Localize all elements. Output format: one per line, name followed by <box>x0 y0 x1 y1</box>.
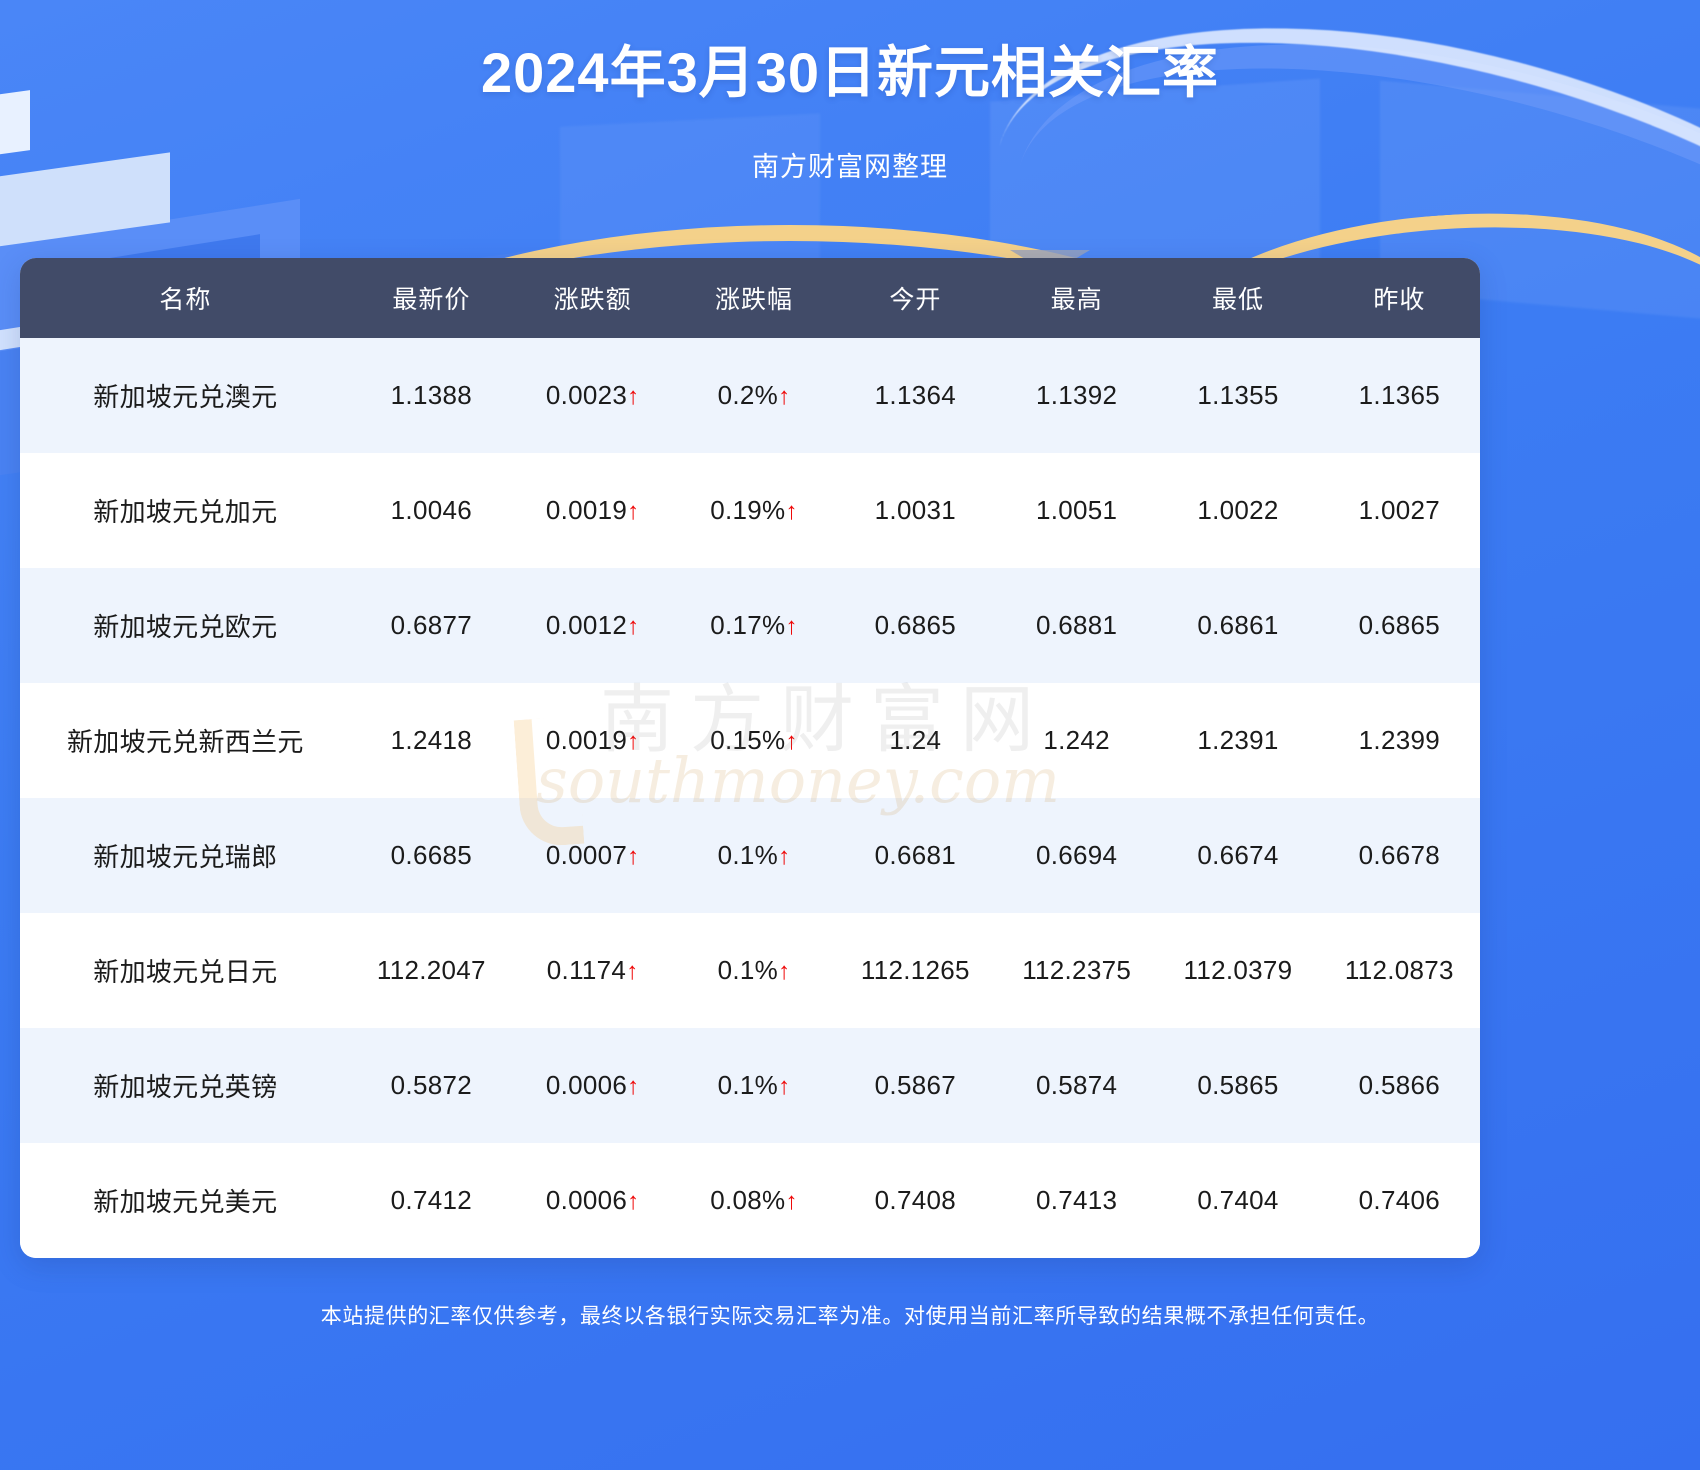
cell-change-amount: 0.0023↑ <box>512 338 673 453</box>
cell-last-price: 0.6877 <box>351 568 512 683</box>
cell-last-price: 0.6685 <box>351 798 512 913</box>
column-header-low[interactable]: 最低 <box>1157 258 1318 338</box>
table-row[interactable]: 新加坡元兑英镑0.58720.0006↑0.1%↑0.58670.58740.5… <box>20 1028 1480 1143</box>
column-header-last[interactable]: 最新价 <box>351 258 512 338</box>
cell-open: 0.6681 <box>835 798 996 913</box>
arrow-up-icon: ↑ <box>785 1188 797 1215</box>
table-row[interactable]: 新加坡元兑欧元0.68770.0012↑0.17%↑0.68650.68810.… <box>20 568 1480 683</box>
cell-last-price: 112.2047 <box>351 913 512 1028</box>
cell-prev-close: 0.6865 <box>1319 568 1480 683</box>
cell-change-amount: 0.0006↑ <box>512 1143 673 1258</box>
cell-change-percent: 0.1%↑ <box>673 798 834 913</box>
cell-high: 0.6694 <box>996 798 1157 913</box>
cell-high: 0.7413 <box>996 1143 1157 1258</box>
cell-open: 1.0031 <box>835 453 996 568</box>
cell-change-percent: 0.1%↑ <box>673 1028 834 1143</box>
cell-change-amount: 0.0012↑ <box>512 568 673 683</box>
cell-high: 1.242 <box>996 683 1157 798</box>
cell-pair-name: 新加坡元兑美元 <box>20 1143 351 1258</box>
cell-pair-name: 新加坡元兑英镑 <box>20 1028 351 1143</box>
cell-change-amount: 0.0007↑ <box>512 798 673 913</box>
table-row[interactable]: 新加坡元兑美元0.74120.0006↑0.08%↑0.74080.74130.… <box>20 1143 1480 1258</box>
cell-low: 1.1355 <box>1157 338 1318 453</box>
cell-pair-name: 新加坡元兑新西兰元 <box>20 683 351 798</box>
cell-last-price: 0.7412 <box>351 1143 512 1258</box>
cell-pair-name: 新加坡元兑欧元 <box>20 568 351 683</box>
cell-change-amount: 0.0019↑ <box>512 453 673 568</box>
column-header-name[interactable]: 名称 <box>20 258 351 338</box>
table-row[interactable]: 新加坡元兑瑞郎0.66850.0007↑0.1%↑0.66810.66940.6… <box>20 798 1480 913</box>
page-title: 2024年3月30日新元相关汇率 <box>0 44 1700 103</box>
cell-low: 112.0379 <box>1157 913 1318 1028</box>
cell-change-percent: 0.17%↑ <box>673 568 834 683</box>
cell-last-price: 1.1388 <box>351 338 512 453</box>
cell-change-percent: 0.19%↑ <box>673 453 834 568</box>
cell-open: 1.24 <box>835 683 996 798</box>
cell-open: 0.6865 <box>835 568 996 683</box>
cell-low: 0.6861 <box>1157 568 1318 683</box>
table-row[interactable]: 新加坡元兑新西兰元1.24180.0019↑0.15%↑1.241.2421.2… <box>20 683 1480 798</box>
cell-high: 0.5874 <box>996 1028 1157 1143</box>
table-body: 新加坡元兑澳元1.13880.0023↑0.2%↑1.13641.13921.1… <box>20 338 1480 1258</box>
arrow-up-icon: ↑ <box>627 1188 639 1215</box>
cell-prev-close: 1.1365 <box>1319 338 1480 453</box>
table-row[interactable]: 新加坡元兑日元112.20470.1174↑0.1%↑112.1265112.2… <box>20 913 1480 1028</box>
column-header-pct[interactable]: 涨跌幅 <box>673 258 834 338</box>
cell-open: 0.7408 <box>835 1143 996 1258</box>
cell-prev-close: 0.5866 <box>1319 1028 1480 1143</box>
cell-prev-close: 112.0873 <box>1319 913 1480 1028</box>
exchange-rate-table: 名称 最新价 涨跌额 涨跌幅 今开 最高 最低 昨收 新加坡元兑澳元1.1388… <box>20 258 1480 1258</box>
cell-pair-name: 新加坡元兑瑞郎 <box>20 798 351 913</box>
column-header-prev-close[interactable]: 昨收 <box>1319 258 1480 338</box>
arrow-up-icon: ↑ <box>778 1073 790 1100</box>
cell-change-amount: 0.0019↑ <box>512 683 673 798</box>
arrow-up-icon: ↑ <box>627 498 639 525</box>
banner: 2024年3月30日新元相关汇率 南方财富网整理 <box>0 0 1700 184</box>
cell-pair-name: 新加坡元兑加元 <box>20 453 351 568</box>
table-header: 名称 最新价 涨跌额 涨跌幅 今开 最高 最低 昨收 <box>20 258 1480 338</box>
cell-change-percent: 0.15%↑ <box>673 683 834 798</box>
cell-change-amount: 0.0006↑ <box>512 1028 673 1143</box>
table-row[interactable]: 新加坡元兑澳元1.13880.0023↑0.2%↑1.13641.13921.1… <box>20 338 1480 453</box>
footer-disclaimer: 本站提供的汇率仅供参考，最终以各银行实际交易汇率为准。对使用当前汇率所导致的结果… <box>0 1300 1700 1330</box>
exchange-rate-infographic: 2024年3月30日新元相关汇率 南方财富网整理 名称 最新价 涨跌额 涨跌幅 … <box>0 0 1700 1470</box>
table-header-row: 名称 最新价 涨跌额 涨跌幅 今开 最高 最低 昨收 <box>20 258 1480 338</box>
cell-low: 0.6674 <box>1157 798 1318 913</box>
table-row[interactable]: 新加坡元兑加元1.00460.0019↑0.19%↑1.00311.00511.… <box>20 453 1480 568</box>
column-header-high[interactable]: 最高 <box>996 258 1157 338</box>
arrow-up-icon: ↑ <box>627 383 639 410</box>
cell-prev-close: 0.7406 <box>1319 1143 1480 1258</box>
arrow-up-icon: ↑ <box>627 613 639 640</box>
cell-change-percent: 0.08%↑ <box>673 1143 834 1258</box>
cell-high: 0.6881 <box>996 568 1157 683</box>
arrow-up-icon: ↑ <box>626 958 638 985</box>
cell-high: 1.0051 <box>996 453 1157 568</box>
cell-prev-close: 1.2399 <box>1319 683 1480 798</box>
cell-low: 1.2391 <box>1157 683 1318 798</box>
arrow-up-icon: ↑ <box>785 613 797 640</box>
cell-change-percent: 0.2%↑ <box>673 338 834 453</box>
arrow-up-icon: ↑ <box>785 728 797 755</box>
cell-open: 1.1364 <box>835 338 996 453</box>
cell-open: 0.5867 <box>835 1028 996 1143</box>
arrow-up-icon: ↑ <box>778 383 790 410</box>
cell-change-amount: 0.1174↑ <box>512 913 673 1028</box>
arrow-up-icon: ↑ <box>778 958 790 985</box>
page-subtitle: 南方财富网整理 <box>0 103 1700 184</box>
arrow-up-icon: ↑ <box>627 728 639 755</box>
arrow-up-icon: ↑ <box>627 1073 639 1100</box>
column-header-change[interactable]: 涨跌额 <box>512 258 673 338</box>
cell-last-price: 0.5872 <box>351 1028 512 1143</box>
cell-high: 1.1392 <box>996 338 1157 453</box>
cell-prev-close: 0.6678 <box>1319 798 1480 913</box>
exchange-rate-card: 名称 最新价 涨跌额 涨跌幅 今开 最高 最低 昨收 新加坡元兑澳元1.1388… <box>20 258 1480 1258</box>
arrow-up-icon: ↑ <box>778 843 790 870</box>
cell-last-price: 1.2418 <box>351 683 512 798</box>
column-header-open[interactable]: 今开 <box>835 258 996 338</box>
cell-pair-name: 新加坡元兑日元 <box>20 913 351 1028</box>
cell-change-percent: 0.1%↑ <box>673 913 834 1028</box>
cell-low: 1.0022 <box>1157 453 1318 568</box>
cell-last-price: 1.0046 <box>351 453 512 568</box>
cell-low: 0.7404 <box>1157 1143 1318 1258</box>
cell-pair-name: 新加坡元兑澳元 <box>20 338 351 453</box>
cell-open: 112.1265 <box>835 913 996 1028</box>
cell-prev-close: 1.0027 <box>1319 453 1480 568</box>
arrow-up-icon: ↑ <box>785 498 797 525</box>
arrow-up-icon: ↑ <box>627 843 639 870</box>
cell-high: 112.2375 <box>996 913 1157 1028</box>
cell-low: 0.5865 <box>1157 1028 1318 1143</box>
